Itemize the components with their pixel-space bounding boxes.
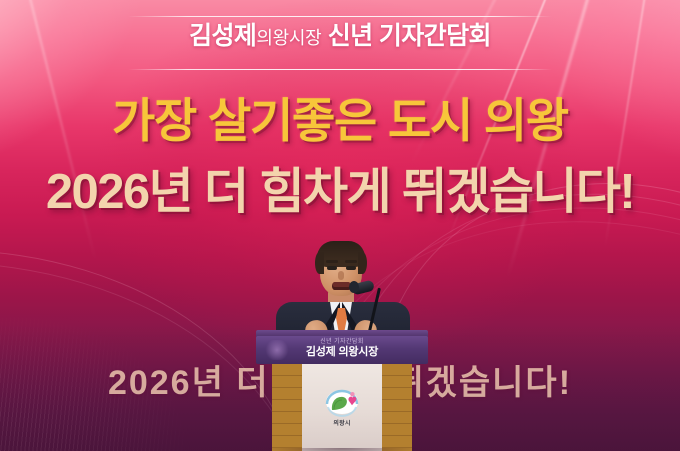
podium-wood-panel-left [272,364,302,451]
banner-title-bar: 김성제의왕시장 신년 기자간담회 [0,7,680,65]
headline-slogan-line1: 가장 살기좋은 도시 의왕 [0,97,680,144]
uiwang-city-logo-label: 의왕시 [302,418,382,427]
speaker-nose [338,271,344,280]
speaker-eyebrow [345,260,357,263]
podium-wood-panel-right [382,364,412,451]
podium-name-sign: 신년 기자간담회 김성제 의왕시장 [256,336,428,364]
banner-rule-top [128,16,552,17]
banner-event-name: 신년 기자간담회 [328,22,491,50]
uiwang-city-logo [324,388,360,422]
podium-sign-emblem [264,340,290,360]
banner-mayor-title: 의왕시장 [256,28,321,48]
banner-rule-bottom [128,69,552,70]
podium-sign-name-text: 김성제 의왕시장 [306,345,378,360]
speaker-hair-side [358,252,367,274]
banner-title-text: 김성제의왕시장 신년 기자간담회 [189,24,491,49]
speaker-hair-side [315,252,324,274]
headline-slogan-line2: 2026년 더 힘차게 뛰겠습니다! [0,168,680,217]
microphone-windscreen [349,281,359,293]
speaker-eye [327,266,337,270]
banner-mayor-name: 김성제 [189,22,256,50]
press-conference-backdrop-photo: 김성제의왕시장 신년 기자간담회 가장 살기좋은 도시 의왕 2026년 더 힘… [0,0,680,451]
speaker-eyebrow [326,260,338,263]
speaker-eye [346,266,356,270]
podium-sign-event-text: 신년 기자간담회 [320,339,364,345]
podium: 신년 기자간담회 김성제 의왕시장 의왕시 [272,330,412,451]
